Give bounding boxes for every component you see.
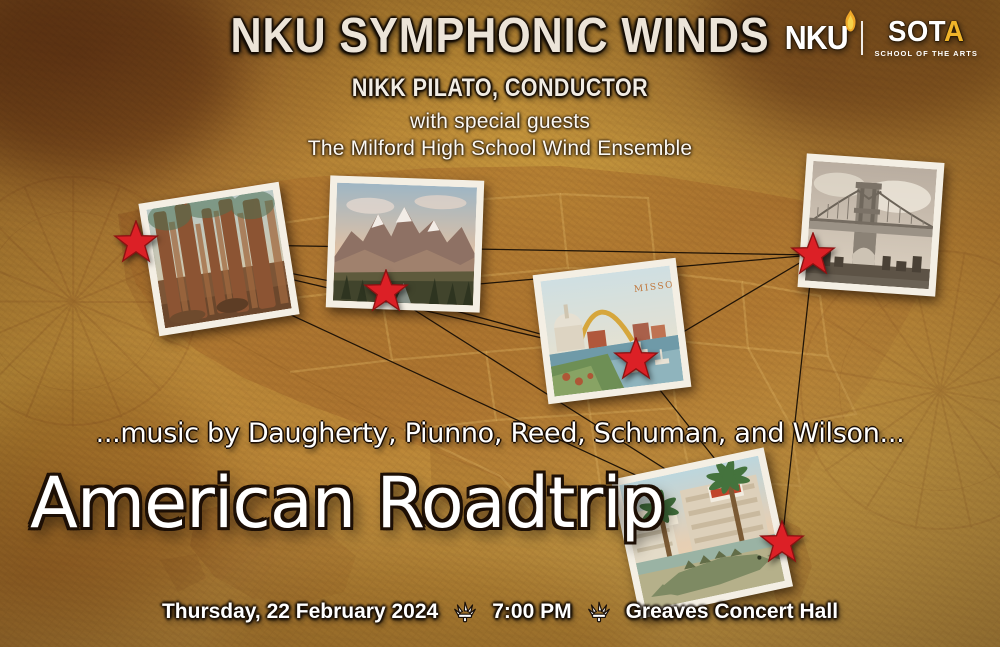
event-date: Thursday, 22 February 2024	[162, 600, 438, 624]
crown-ornament-icon-2	[586, 599, 612, 625]
event-time: 7:00 PM	[492, 600, 571, 624]
concert-poster: MISSOURI	[0, 0, 1000, 647]
crown-ornament-icon	[452, 599, 478, 625]
rocky-mountains-image	[333, 183, 477, 306]
event-details-bar: Thursday, 22 February 2024 7:00 PM	[0, 599, 1000, 625]
guest-label: with special guests	[0, 110, 1000, 134]
st-louis-arch-image: MISSOURI	[540, 266, 683, 397]
event-venue: Greaves Concert Hall	[626, 600, 838, 624]
guest-ensemble-name: The Milford High School Wind Ensemble	[0, 137, 1000, 161]
flame-icon	[844, 10, 857, 32]
sota-subtitle: SCHOOL OF THE ARTS	[874, 50, 978, 58]
composers-line: ...music by Daugherty, Piunno, Reed, Sch…	[0, 418, 1000, 449]
logo-divider	[861, 21, 863, 55]
postcard-rockies	[326, 175, 485, 312]
george-washington-bridge-image	[805, 161, 937, 289]
sota-wordmark: SOTA	[888, 18, 964, 47]
postcard-redwoods	[138, 182, 299, 337]
postcard-gwbridge	[797, 153, 944, 296]
conductor-line: NIKK PILATO, CONDUCTOR	[70, 74, 930, 103]
postcard-missouri: MISSOURI	[533, 258, 692, 405]
nku-sota-logo[interactable]: NKU SOTA SCHOOL OF THE ARTS	[782, 18, 978, 58]
program-title: American Roadtrip	[30, 462, 664, 544]
redwood-forest-image	[146, 190, 291, 329]
nku-wordmark: NKU	[785, 19, 848, 57]
